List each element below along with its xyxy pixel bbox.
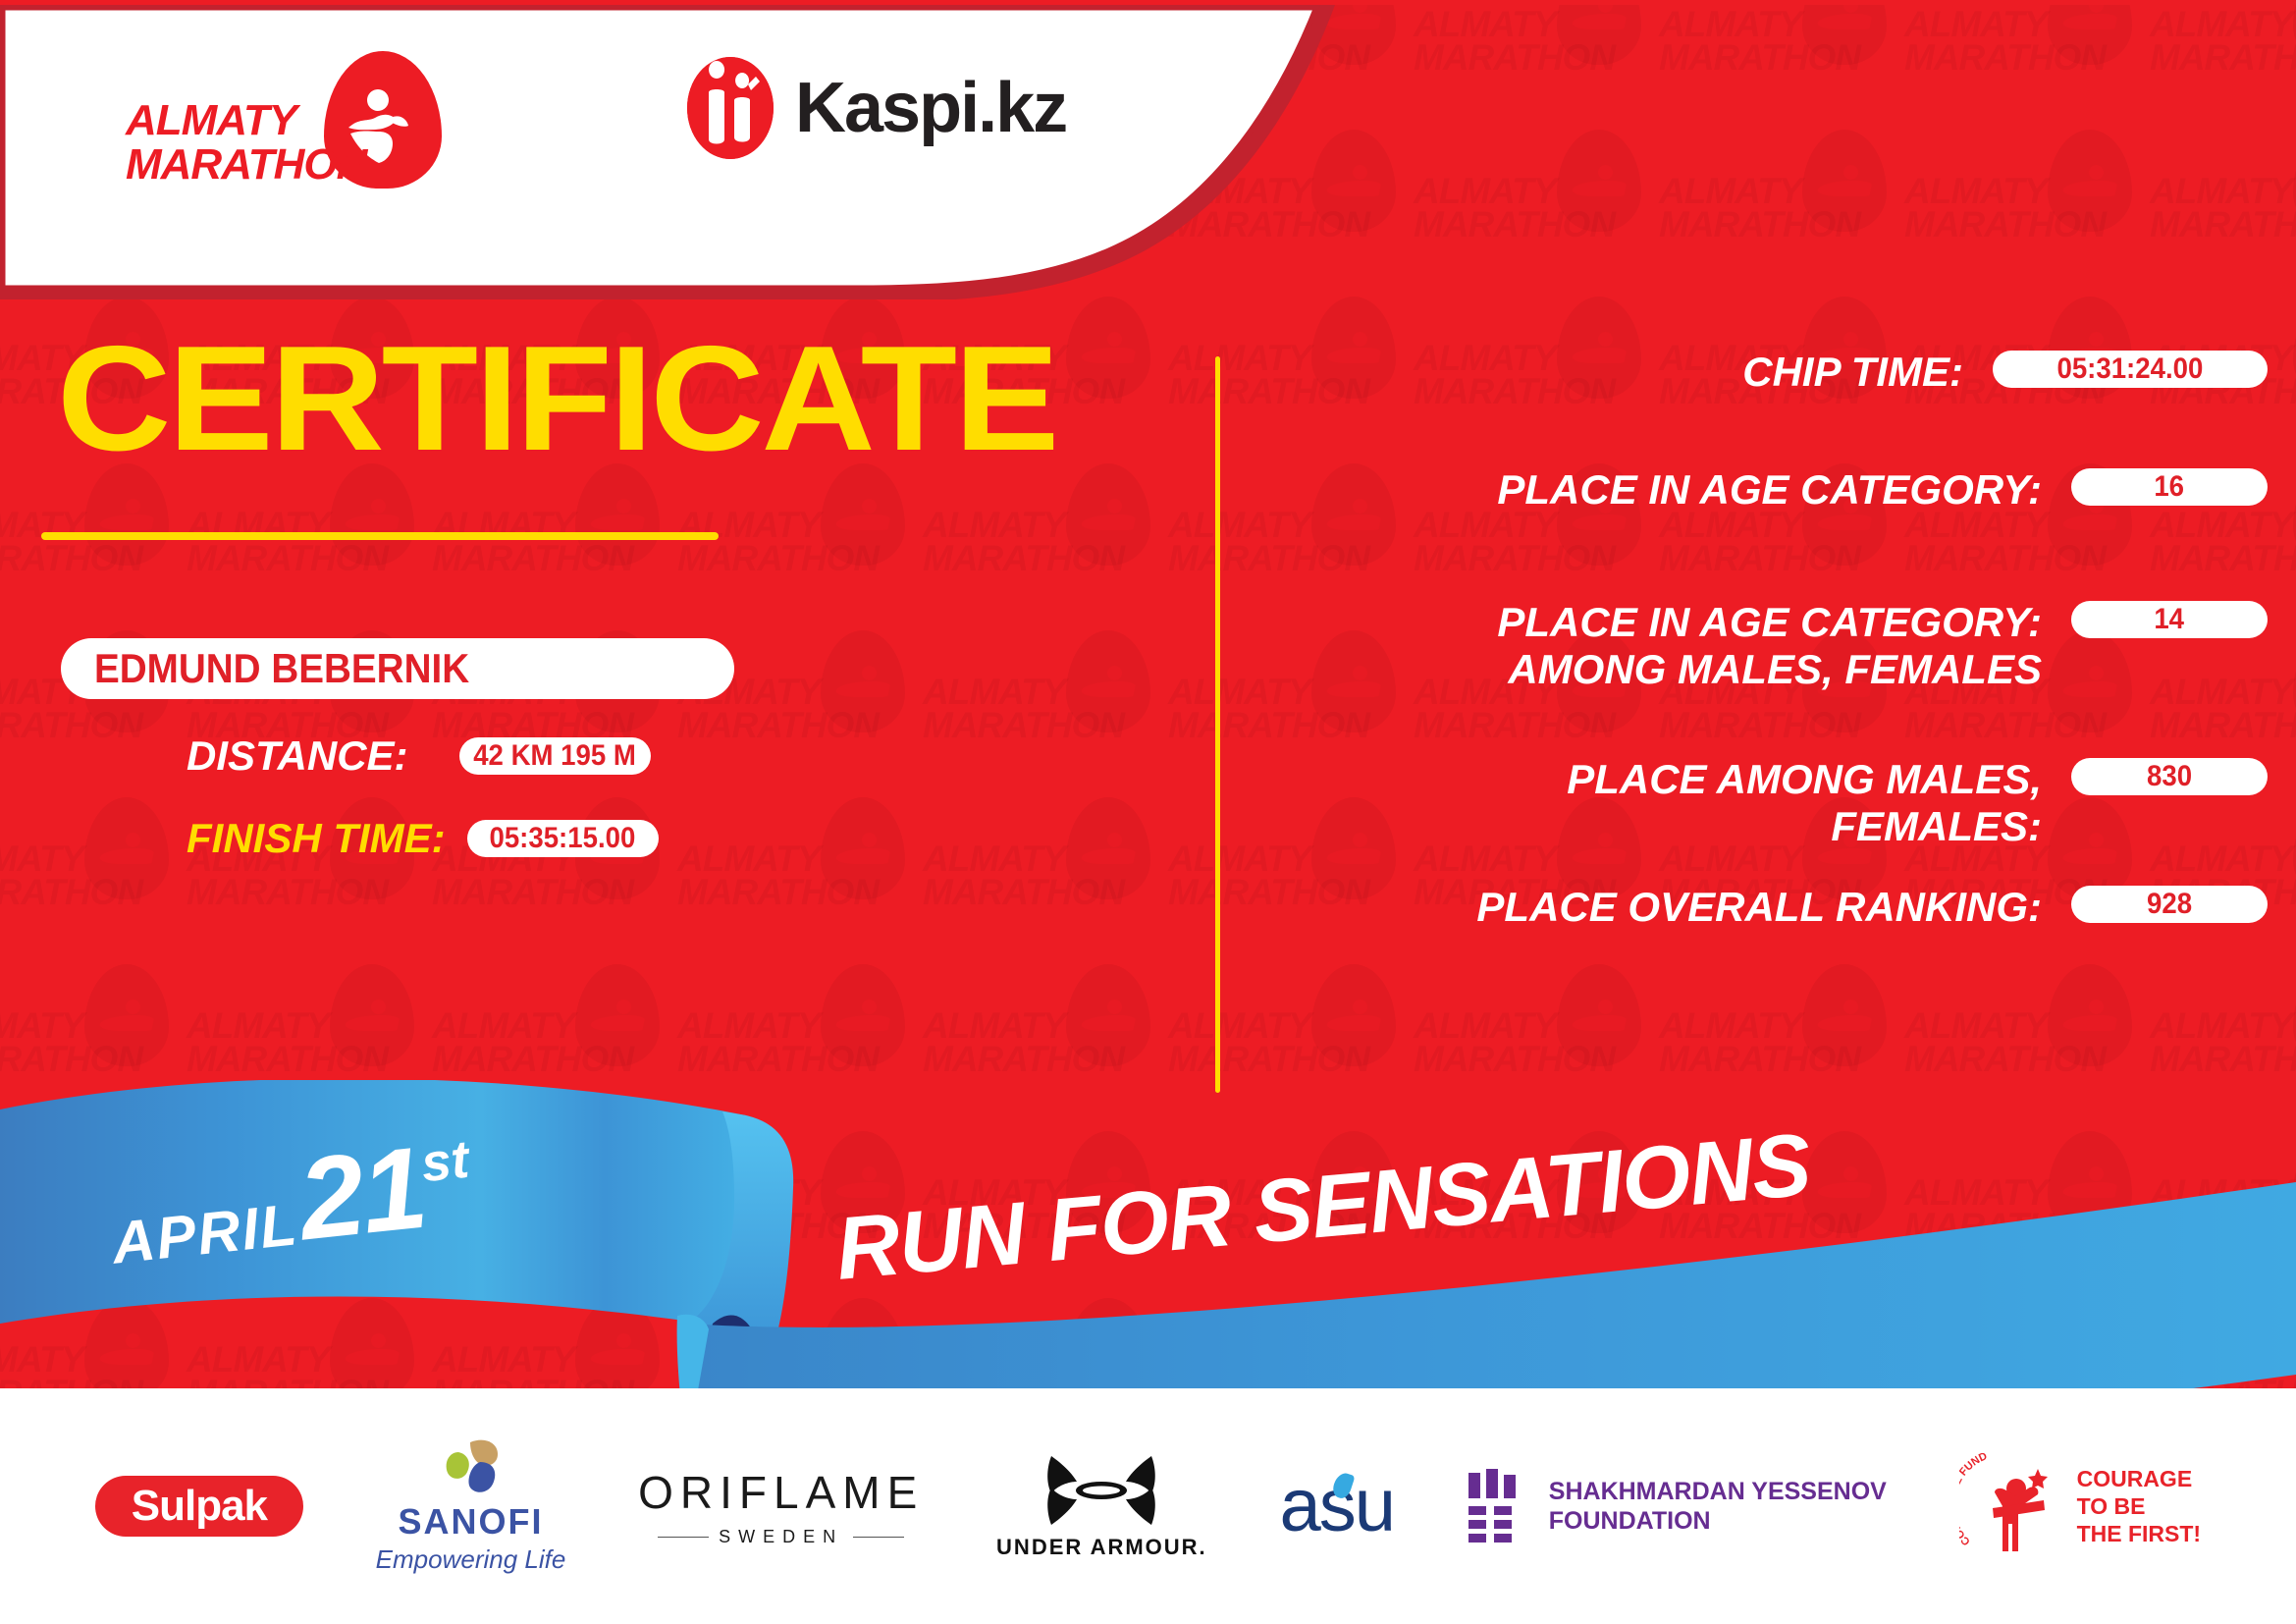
certificate-canvas: ALMATYMARATHONALMATYMARATHONALMATYMARATH… bbox=[0, 0, 2296, 1624]
watermark-line2: MARATHON bbox=[2150, 538, 2296, 579]
watermark-runner-icon bbox=[1327, 1000, 1380, 1033]
watermark-line2: MARATHON bbox=[1904, 1039, 2106, 1080]
sponsor-courage-fund: CORPORATE FUND COURAGE TO BE THE FIRST! bbox=[1959, 1453, 2202, 1559]
watermark-tile: ALMATYMARATHON bbox=[923, 795, 1168, 962]
stat-value: 928 bbox=[2147, 888, 2192, 921]
watermark-drop-icon bbox=[2048, 630, 2132, 732]
watermark-runner-icon bbox=[1327, 833, 1380, 866]
watermark-runner-icon bbox=[1818, 1000, 1871, 1033]
watermark-line2: MARATHON bbox=[1168, 371, 1369, 412]
watermark-line1: ALMATY bbox=[1168, 505, 1310, 546]
top-accent-line bbox=[0, 0, 2296, 5]
watermark-drop-icon bbox=[1066, 964, 1150, 1066]
kaspi-wordmark: Kaspi.kz bbox=[795, 68, 1066, 148]
watermark-runner-icon bbox=[1327, 332, 1380, 365]
watermark-line2: MARATHON bbox=[0, 538, 142, 579]
watermark-line1: ALMATY bbox=[1659, 1005, 1801, 1047]
watermark-drop-icon bbox=[2048, 964, 2132, 1066]
watermark-line1: ALMATY bbox=[2150, 1005, 2292, 1047]
watermark-drop-icon bbox=[1066, 297, 1150, 399]
watermark-drop-icon bbox=[821, 964, 905, 1066]
watermark-line2: MARATHON bbox=[432, 538, 633, 579]
participant-name-field: EDMUND BEBERNIK bbox=[61, 638, 734, 699]
distance-row: DISTANCE: 42 KM 195 M bbox=[187, 732, 651, 780]
watermark-line1: ALMATY bbox=[923, 505, 1065, 546]
watermark-line2: MARATHON bbox=[2150, 705, 2296, 746]
event-day-suffix: st bbox=[418, 1130, 471, 1194]
watermark-line2: MARATHON bbox=[923, 1039, 1124, 1080]
courage-fund-wordmark: COURAGE TO BE THE FIRST! bbox=[2077, 1465, 2202, 1547]
sponsor-sanofi: SANOFI Empowering Life bbox=[376, 1438, 566, 1575]
watermark-runner-icon bbox=[591, 1000, 644, 1033]
sanofi-tagline: Empowering Life bbox=[376, 1544, 566, 1575]
watermark-tile: ALMATYMARATHON bbox=[1168, 461, 1414, 628]
watermark-runner-icon bbox=[836, 1000, 889, 1033]
participant-name: EDMUND BEBERNIK bbox=[94, 645, 469, 692]
watermark-drop-icon bbox=[1311, 964, 1396, 1066]
watermark-tile: ALMATYMARATHON bbox=[187, 461, 432, 628]
watermark-runner-icon bbox=[836, 666, 889, 699]
sulpak-logo: Sulpak bbox=[95, 1476, 303, 1537]
watermark-line1: ALMATY bbox=[923, 672, 1065, 713]
watermark-tile: ALMATYMARATHON bbox=[923, 461, 1168, 628]
watermark-line2: MARATHON bbox=[677, 1039, 879, 1080]
stat-value-pill: 16 bbox=[2071, 468, 2268, 506]
stat-value-pill: 14 bbox=[2071, 601, 2268, 638]
finish-time-value-pill: 05:35:15.00 bbox=[467, 820, 659, 857]
yessenov-foundation-logo bbox=[1467, 1469, 1527, 1543]
svg-text:CORPORATE FUND: CORPORATE FUND bbox=[1959, 1453, 1989, 1547]
watermark-line1: ALMATY bbox=[1168, 1005, 1310, 1047]
watermark-line2: MARATHON bbox=[187, 1039, 388, 1080]
watermark-line1: ALMATY bbox=[923, 839, 1065, 880]
watermark-line2: MARATHON bbox=[1659, 538, 1860, 579]
watermark-line2: MARATHON bbox=[0, 705, 142, 746]
stat-label: PLACE OVERALL RANKING: bbox=[1476, 884, 2042, 931]
watermark-line2: MARATHON bbox=[1414, 1039, 1615, 1080]
watermark-runner-icon bbox=[591, 499, 644, 532]
event-month: APRIL bbox=[109, 1191, 301, 1275]
watermark-runner-icon bbox=[1573, 332, 1626, 365]
watermark-line2: MARATHON bbox=[187, 872, 388, 913]
sponsor-oriflame: ORIFLAME SWEDEN bbox=[638, 1466, 924, 1547]
kaspi-logo: Kaspi.kz bbox=[687, 57, 1066, 159]
watermark-line2: MARATHON bbox=[432, 872, 633, 913]
watermark-line2: MARATHON bbox=[1659, 1039, 1860, 1080]
watermark-line1: ALMATY bbox=[1168, 672, 1310, 713]
stat-label: PLACE AMONG MALES, FEMALES: bbox=[1567, 756, 2042, 850]
watermark-drop-icon bbox=[1311, 297, 1396, 399]
watermark-runner-icon bbox=[1082, 332, 1135, 365]
under-armour-logo bbox=[1043, 1452, 1159, 1529]
oriflame-sub: SWEDEN bbox=[658, 1527, 904, 1547]
watermark-drop-icon bbox=[575, 964, 660, 1066]
watermark-runner-icon bbox=[1327, 666, 1380, 699]
watermark-tile: ALMATYMARATHON bbox=[1414, 295, 1659, 461]
courage-fund-logo: CORPORATE FUND bbox=[1959, 1453, 2067, 1559]
sponsor-under-armour: UNDER ARMOUR. bbox=[996, 1452, 1207, 1560]
watermark-drop-icon bbox=[1557, 964, 1641, 1066]
sponsor-bar: Sulpak SANOFI Empowering Life ORIFLAME S… bbox=[0, 1388, 2296, 1624]
stat-label: PLACE IN AGE CATEGORY: AMONG MALES, FEMA… bbox=[1497, 599, 2042, 693]
title-underline bbox=[41, 532, 719, 540]
almaty-logo-line2: MARATHON bbox=[126, 142, 366, 187]
watermark-tile: ALMATYMARATHON bbox=[432, 461, 677, 628]
under-armour-wordmark: UNDER ARMOUR. bbox=[996, 1535, 1207, 1560]
watermark-line1: ALMATY bbox=[1904, 1005, 2047, 1047]
kaspi-people-icon bbox=[687, 57, 774, 159]
watermark-runner-icon bbox=[1082, 499, 1135, 532]
watermark-line2: MARATHON bbox=[923, 538, 1124, 579]
watermark-line1: ALMATY bbox=[677, 839, 820, 880]
watermark-line1: ALMATY bbox=[677, 1005, 820, 1047]
distance-value-pill: 42 KM 195 M bbox=[459, 737, 651, 775]
watermark-line2: MARATHON bbox=[677, 538, 879, 579]
asu-logo: asu bbox=[1279, 1469, 1394, 1543]
stat-label: CHIP TIME: bbox=[1742, 349, 1963, 396]
vertical-divider bbox=[1215, 356, 1220, 1093]
event-day: 21 bbox=[293, 1123, 430, 1266]
watermark-line2: MARATHON bbox=[1659, 705, 1860, 746]
stat-value: 830 bbox=[2147, 760, 2192, 793]
watermark-line2: MARATHON bbox=[1168, 1039, 1369, 1080]
watermark-line1: ALMATY bbox=[2150, 505, 2292, 546]
watermark-runner-icon bbox=[346, 499, 399, 532]
almaty-marathon-logo: ALMATY MARATHON bbox=[126, 51, 450, 184]
watermark-drop-icon bbox=[84, 964, 169, 1066]
watermark-line2: MARATHON bbox=[432, 1039, 633, 1080]
watermark-line1: ALMATY bbox=[1414, 1005, 1556, 1047]
watermark-drop-icon bbox=[821, 630, 905, 732]
watermark-tile: ALMATYMARATHON bbox=[677, 795, 923, 962]
watermark-line1: ALMATY bbox=[432, 1005, 574, 1047]
sponsor-yessenov: SHAKHMARDAN YESSENOV FOUNDATION bbox=[1467, 1469, 1887, 1543]
watermark-runner-icon bbox=[2063, 833, 2116, 866]
yessenov-wordmark: SHAKHMARDAN YESSENOV FOUNDATION bbox=[1549, 1477, 1887, 1536]
watermark-tile: ALMATYMARATHON bbox=[2150, 795, 2296, 962]
watermark-line1: ALMATY bbox=[1168, 839, 1310, 880]
watermark-drop-icon bbox=[1802, 964, 1887, 1066]
watermark-drop-icon bbox=[1066, 630, 1150, 732]
distance-label: DISTANCE: bbox=[187, 732, 408, 780]
watermark-line2: MARATHON bbox=[1168, 872, 1369, 913]
watermark-runner-icon bbox=[2063, 1000, 2116, 1033]
stat-value: 16 bbox=[2155, 470, 2185, 504]
watermark-runner-icon bbox=[100, 1000, 153, 1033]
watermark-runner-icon bbox=[1327, 499, 1380, 532]
watermark-drop-icon bbox=[1311, 630, 1396, 732]
watermark-tile: ALMATYMARATHON bbox=[1168, 295, 1414, 461]
watermark-runner-icon bbox=[100, 833, 153, 866]
watermark-tile: ALMATYMARATHON bbox=[1168, 795, 1414, 962]
distance-value: 42 KM 195 M bbox=[473, 739, 636, 773]
watermark-tile: ALMATYMARATHON bbox=[0, 461, 187, 628]
watermark-runner-icon bbox=[1573, 1000, 1626, 1033]
stat-value-pill: 830 bbox=[2071, 758, 2268, 795]
watermark-line1: ALMATY bbox=[0, 1005, 83, 1047]
watermark-tile: ALMATYMARATHON bbox=[0, 795, 187, 962]
watermark-line2: MARATHON bbox=[0, 872, 142, 913]
sponsor-sulpak: Sulpak bbox=[95, 1476, 303, 1537]
finish-time-label: FINISH TIME: bbox=[187, 815, 446, 862]
finish-time-value: 05:35:15.00 bbox=[490, 822, 636, 855]
stat-value: 05:31:24.00 bbox=[2057, 352, 2204, 386]
watermark-tile: ALMATYMARATHON bbox=[677, 461, 923, 628]
watermark-runner-icon bbox=[1082, 1000, 1135, 1033]
watermark-line2: MARATHON bbox=[2150, 1039, 2296, 1080]
watermark-drop-icon bbox=[1311, 463, 1396, 566]
watermark-line1: ALMATY bbox=[1414, 338, 1556, 379]
watermark-runner-icon bbox=[100, 499, 153, 532]
watermark-line2: MARATHON bbox=[0, 1039, 142, 1080]
page-title: CERTIFICATE bbox=[57, 324, 1056, 473]
watermark-tile: ALMATYMARATHON bbox=[923, 628, 1168, 795]
watermark-line2: MARATHON bbox=[923, 705, 1124, 746]
watermark-drop-icon bbox=[1066, 463, 1150, 566]
rule-right bbox=[853, 1537, 904, 1538]
oriflame-tagline: SWEDEN bbox=[719, 1527, 843, 1547]
watermark-line2: MARATHON bbox=[1414, 705, 1615, 746]
stat-value: 14 bbox=[2155, 603, 2185, 636]
watermark-line2: MARATHON bbox=[1414, 538, 1615, 579]
watermark-line2: MARATHON bbox=[1904, 538, 2106, 579]
watermark-line1: ALMATY bbox=[1168, 338, 1310, 379]
almaty-marathon-wordmark: ALMATY MARATHON bbox=[126, 98, 366, 187]
watermark-line2: MARATHON bbox=[1168, 705, 1369, 746]
sponsor-asu: asu bbox=[1279, 1469, 1394, 1543]
watermark-runner-icon bbox=[836, 833, 889, 866]
watermark-runner-icon bbox=[1082, 666, 1135, 699]
watermark-line1: ALMATY bbox=[0, 839, 83, 880]
watermark-line1: ALMATY bbox=[187, 1005, 329, 1047]
watermark-line2: MARATHON bbox=[677, 872, 879, 913]
watermark-drop-icon bbox=[1311, 797, 1396, 899]
watermark-drop-icon bbox=[330, 964, 414, 1066]
watermark-line2: MARATHON bbox=[187, 538, 388, 579]
watermark-drop-icon bbox=[1066, 797, 1150, 899]
watermark-line1: ALMATY bbox=[2150, 672, 2292, 713]
sanofi-logo bbox=[437, 1438, 506, 1497]
finish-time-row: FINISH TIME: 05:35:15.00 bbox=[187, 815, 659, 862]
watermark-runner-icon bbox=[1082, 833, 1135, 866]
watermark-tile: ALMATYMARATHON bbox=[1168, 628, 1414, 795]
watermark-line2: MARATHON bbox=[1904, 705, 2106, 746]
watermark-line1: ALMATY bbox=[1414, 839, 1556, 880]
watermark-drop-icon bbox=[2048, 797, 2132, 899]
watermark-runner-icon bbox=[836, 499, 889, 532]
watermark-drop-icon bbox=[84, 797, 169, 899]
watermark-line2: MARATHON bbox=[677, 705, 879, 746]
rule-left bbox=[658, 1537, 709, 1538]
watermark-line2: MARATHON bbox=[1168, 538, 1369, 579]
watermark-line1: ALMATY bbox=[2150, 839, 2292, 880]
watermark-runner-icon bbox=[346, 1000, 399, 1033]
stat-label: PLACE IN AGE CATEGORY: bbox=[1497, 466, 2042, 514]
watermark-runner-icon bbox=[2063, 666, 2116, 699]
oriflame-wordmark: ORIFLAME bbox=[638, 1466, 924, 1519]
almaty-logo-line1: ALMATY bbox=[126, 96, 296, 144]
watermark-line1: ALMATY bbox=[923, 1005, 1065, 1047]
stat-value-pill: 928 bbox=[2071, 886, 2268, 923]
sanofi-wordmark: SANOFI bbox=[398, 1501, 543, 1543]
watermark-drop-icon bbox=[821, 797, 905, 899]
stat-value-pill: 05:31:24.00 bbox=[1993, 351, 2268, 388]
watermark-drop-icon bbox=[1557, 297, 1641, 399]
watermark-line2: MARATHON bbox=[923, 872, 1124, 913]
watermark-line2: MARATHON bbox=[1414, 371, 1615, 412]
